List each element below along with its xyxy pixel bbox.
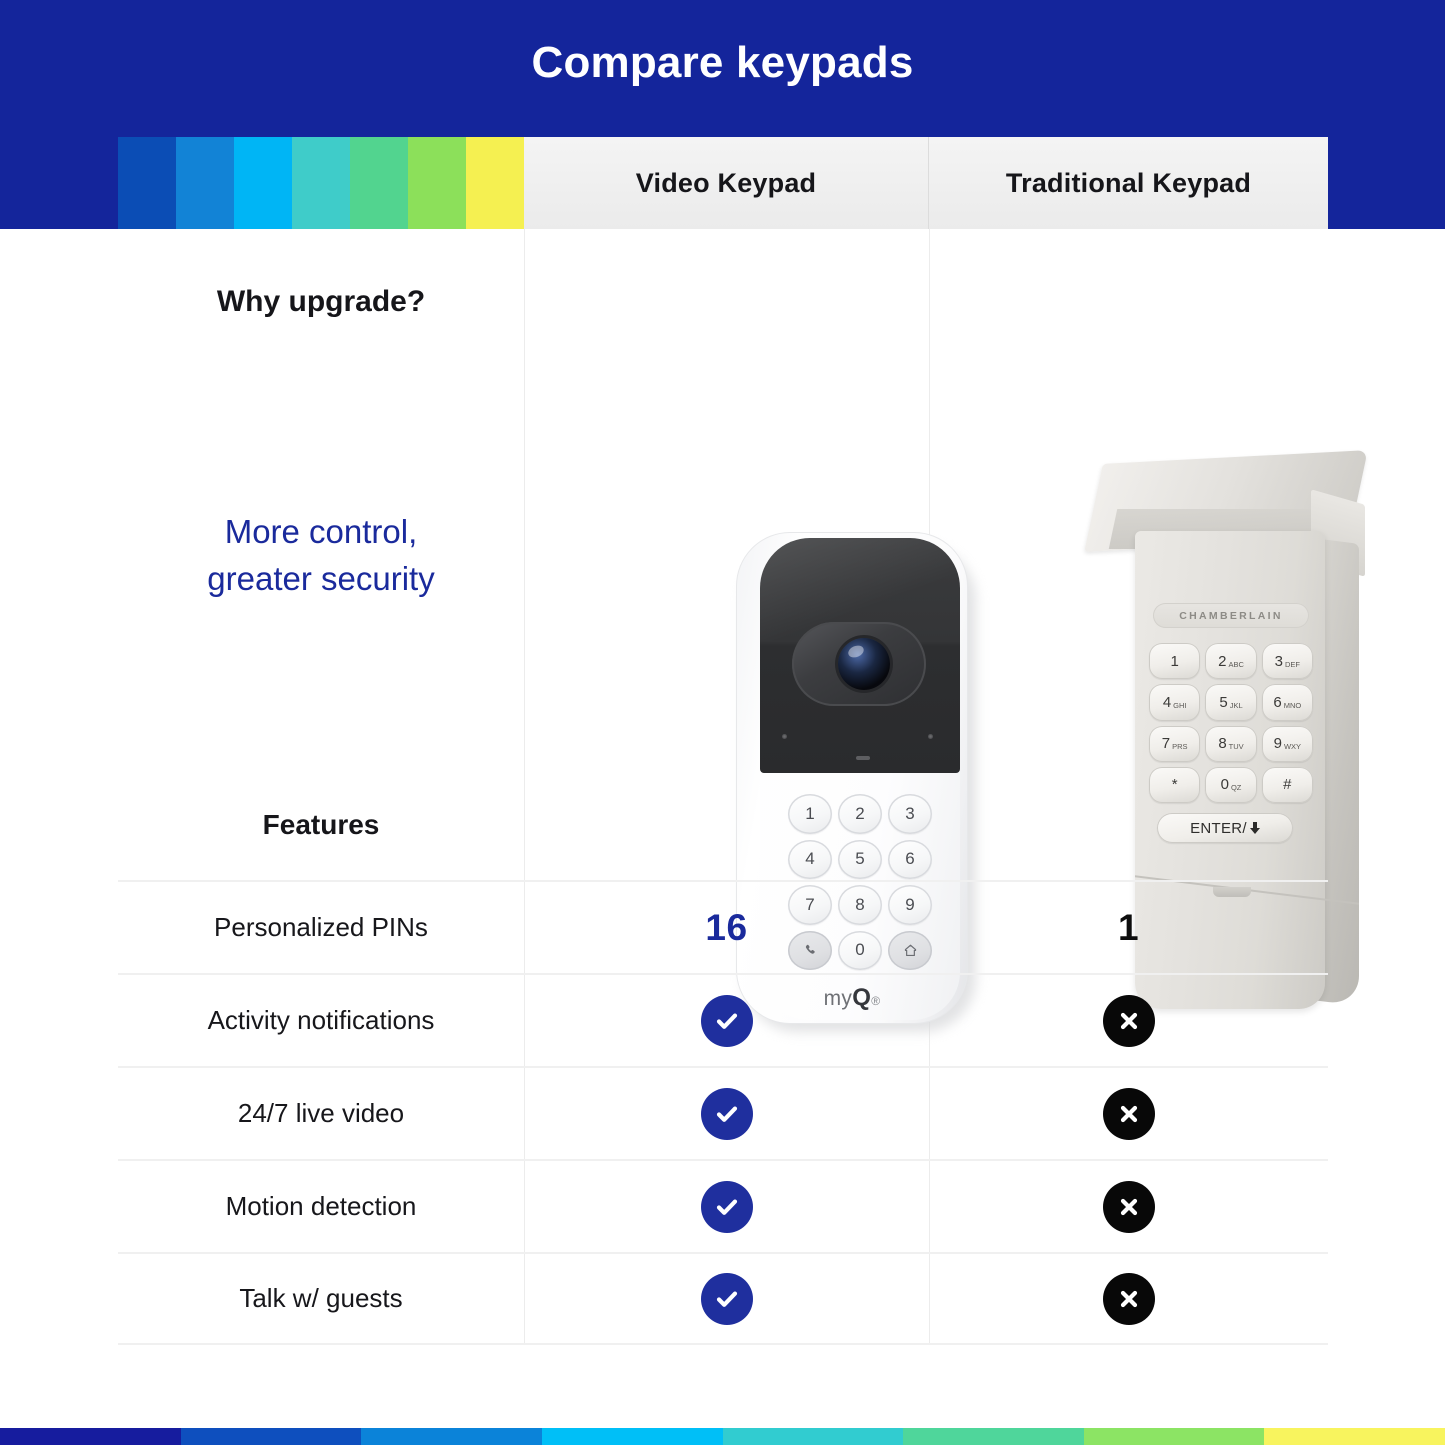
traditional-value-cell: 1 <box>929 907 1328 949</box>
ir-sensor-left-icon <box>782 734 787 739</box>
footer-band-5 <box>903 1428 1084 1445</box>
traditional-pin-count: 1 <box>1118 907 1139 949</box>
traditional-key-9: 9WXY <box>1262 726 1313 762</box>
traditional-key-2: 2ABC <box>1205 643 1256 679</box>
table-row: Motion detection <box>118 1159 1328 1252</box>
ir-sensor-right-icon <box>928 734 933 739</box>
chamberlain-logo-label: CHAMBERLAIN <box>1179 610 1282 622</box>
keypad-key-2: 2 <box>838 794 882 834</box>
footer-band-4 <box>723 1428 904 1445</box>
keypad-key-5: 5 <box>838 840 882 880</box>
microphone-icon <box>856 756 870 760</box>
accent-band-4 <box>350 137 408 229</box>
video-value-cell <box>524 995 929 1047</box>
comparison-infographic: Compare keypads Video Keypad Traditional… <box>0 0 1445 1445</box>
feature-label: Talk w/ guests <box>118 1283 524 1314</box>
download-arrow-icon <box>1250 822 1260 834</box>
traditional-value-cell <box>929 1273 1328 1325</box>
column-header-traditional: Traditional Keypad <box>929 137 1328 229</box>
footer-band-3 <box>542 1428 723 1445</box>
feature-label: Motion detection <box>118 1191 524 1222</box>
traditional-key-7: 7PRS <box>1149 726 1200 762</box>
accent-band-6 <box>466 137 524 229</box>
keypad-key-1: 1 <box>788 794 832 834</box>
column-header-video: Video Keypad <box>524 137 928 229</box>
feature-label: Activity notifications <box>118 1005 524 1036</box>
check-icon <box>701 1088 753 1140</box>
traditional-key-star: * <box>1149 767 1200 803</box>
accent-band-0 <box>118 137 176 229</box>
camera-lens-icon <box>838 638 890 690</box>
video-value-cell: 16 <box>524 907 929 949</box>
why-upgrade-heading: Why upgrade? <box>118 285 524 319</box>
tagline: More control, greater security <box>118 509 524 603</box>
footer-color-strip <box>0 1428 1445 1445</box>
footer-band-7 <box>1264 1428 1445 1445</box>
accent-band-5 <box>408 137 466 229</box>
traditional-key-6: 6MNO <box>1262 684 1313 720</box>
hero-row: Why upgrade? More control, greater secur… <box>118 229 1328 880</box>
chamberlain-logo: CHAMBERLAIN <box>1153 603 1309 628</box>
check-icon <box>701 1181 753 1233</box>
table-row: Personalized PINs 16 1 <box>118 880 1328 973</box>
accent-band-2 <box>234 137 292 229</box>
tagline-line-2: greater security <box>118 556 524 603</box>
traditional-key-8: 8TUV <box>1205 726 1256 762</box>
table-row: 24/7 live video <box>118 1066 1328 1159</box>
traditional-key-3: 3DEF <box>1262 643 1313 679</box>
table-row: Activity notifications <box>118 973 1328 1066</box>
cross-icon <box>1103 1273 1155 1325</box>
cross-icon <box>1103 995 1155 1047</box>
comparison-table: Why upgrade? More control, greater secur… <box>118 229 1328 1359</box>
video-pin-count: 16 <box>705 907 747 949</box>
tagline-line-1: More control, <box>118 509 524 556</box>
footer-band-1 <box>181 1428 362 1445</box>
footer-band-6 <box>1084 1428 1265 1445</box>
video-value-cell <box>524 1273 929 1325</box>
traditional-key-1: 1 <box>1149 643 1200 679</box>
page-title: Compare keypads <box>0 38 1445 88</box>
footer-band-2 <box>361 1428 542 1445</box>
enter-key: ENTER/ <box>1157 813 1293 843</box>
feature-label: 24/7 live video <box>118 1098 524 1129</box>
keypad-key-3: 3 <box>888 794 932 834</box>
traditional-keypad-keys: 12ABC3DEF4GHI5JKL6MNO7PRS8TUV9WXY*0QZ# <box>1149 643 1313 803</box>
column-header-video-label: Video Keypad <box>636 168 816 199</box>
video-value-cell <box>524 1181 929 1233</box>
video-keypad-camera-panel <box>760 538 960 773</box>
traditional-value-cell <box>929 1181 1328 1233</box>
video-value-cell <box>524 1088 929 1140</box>
column-header-traditional-label: Traditional Keypad <box>1006 168 1251 199</box>
keypad-key-4: 4 <box>788 840 832 880</box>
table-row: Talk w/ guests <box>118 1252 1328 1345</box>
check-icon <box>701 995 753 1047</box>
traditional-key-0: 0QZ <box>1205 767 1256 803</box>
traditional-key-4: 4GHI <box>1149 684 1200 720</box>
check-icon <box>701 1273 753 1325</box>
accent-color-strip <box>118 137 524 229</box>
traditional-key-5: 5JKL <box>1205 684 1256 720</box>
traditional-key-hash: # <box>1262 767 1313 803</box>
feature-label: Personalized PINs <box>118 912 524 943</box>
keypad-key-6: 6 <box>888 840 932 880</box>
accent-band-3 <box>292 137 350 229</box>
enter-key-label: ENTER/ <box>1190 820 1247 837</box>
accent-band-1 <box>176 137 234 229</box>
cross-icon <box>1103 1088 1155 1140</box>
traditional-value-cell <box>929 1088 1328 1140</box>
traditional-value-cell <box>929 995 1328 1047</box>
features-heading: Features <box>118 809 524 841</box>
cross-icon <box>1103 1181 1155 1233</box>
feature-rows: Personalized PINs 16 1 Activity notifica… <box>118 880 1328 1345</box>
footer-band-0 <box>0 1428 181 1445</box>
camera-lens-plate <box>792 622 926 706</box>
